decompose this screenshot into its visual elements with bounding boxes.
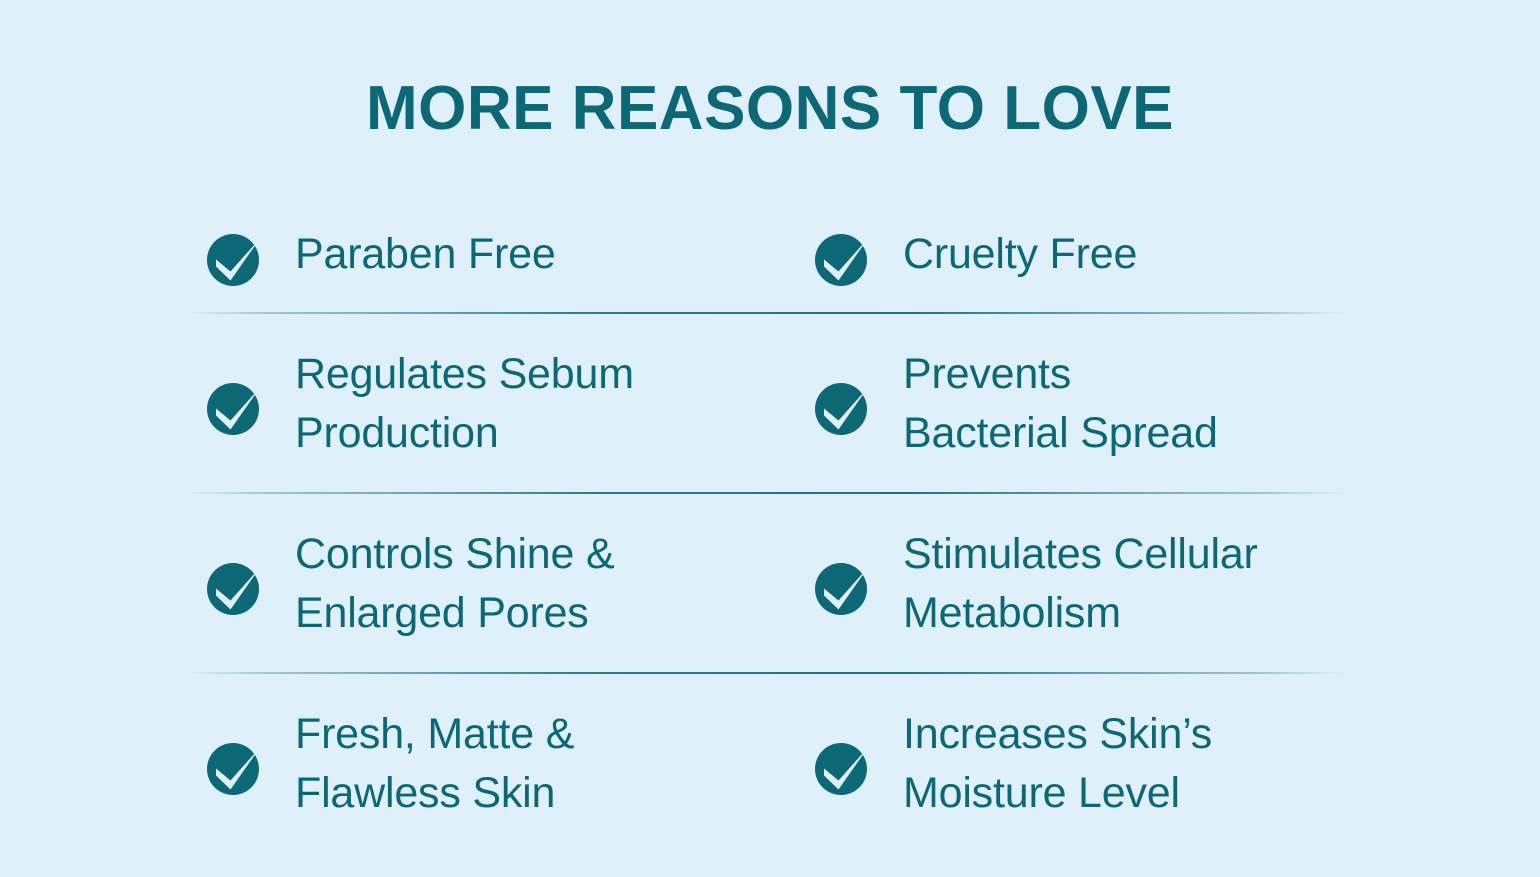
benefit-row: Regulates Sebum Production Prevents Bact…	[185, 314, 1345, 494]
benefit-item: Regulates Sebum Production	[185, 314, 800, 494]
benefits-grid: Paraben Free Cruelty Free	[185, 195, 1345, 854]
check-circle-icon	[202, 367, 276, 441]
check-circle-icon	[810, 218, 884, 292]
check-circle-icon	[202, 547, 276, 621]
benefit-label: Regulates Sebum Production	[276, 345, 634, 463]
benefit-item: Controls Shine & Enlarged Pores	[185, 494, 800, 674]
benefit-item: Prevents Bacterial Spread	[800, 314, 1345, 494]
benefit-row: Controls Shine & Enlarged Pores Stimulat…	[185, 494, 1345, 674]
check-circle-icon	[810, 727, 884, 801]
benefit-item: Cruelty Free	[800, 195, 1345, 314]
benefit-label: Increases Skin’s Moisture Level	[884, 705, 1212, 823]
benefit-label: Stimulates Cellular Metabolism	[884, 525, 1258, 643]
benefit-label: Prevents Bacterial Spread	[884, 345, 1218, 463]
benefit-label: Controls Shine & Enlarged Pores	[276, 525, 614, 643]
benefit-row: Fresh, Matte & Flawless Skin Increases S…	[185, 674, 1345, 854]
check-circle-icon	[810, 367, 884, 441]
check-circle-icon	[202, 727, 276, 801]
benefit-item: Paraben Free	[185, 195, 800, 314]
check-circle-icon	[202, 218, 276, 292]
benefit-item: Stimulates Cellular Metabolism	[800, 494, 1345, 674]
page-title: MORE REASONS TO LOVE	[0, 72, 1540, 146]
check-circle-icon	[810, 547, 884, 621]
benefit-label: Paraben Free	[276, 225, 556, 284]
benefit-item: Fresh, Matte & Flawless Skin	[185, 674, 800, 854]
benefit-row: Paraben Free Cruelty Free	[185, 195, 1345, 314]
benefit-label: Fresh, Matte & Flawless Skin	[276, 705, 574, 823]
promo-benefits-panel: MORE REASONS TO LOVE Paraben Free	[0, 0, 1540, 877]
benefit-item: Increases Skin’s Moisture Level	[800, 674, 1345, 854]
benefit-label: Cruelty Free	[884, 225, 1137, 284]
